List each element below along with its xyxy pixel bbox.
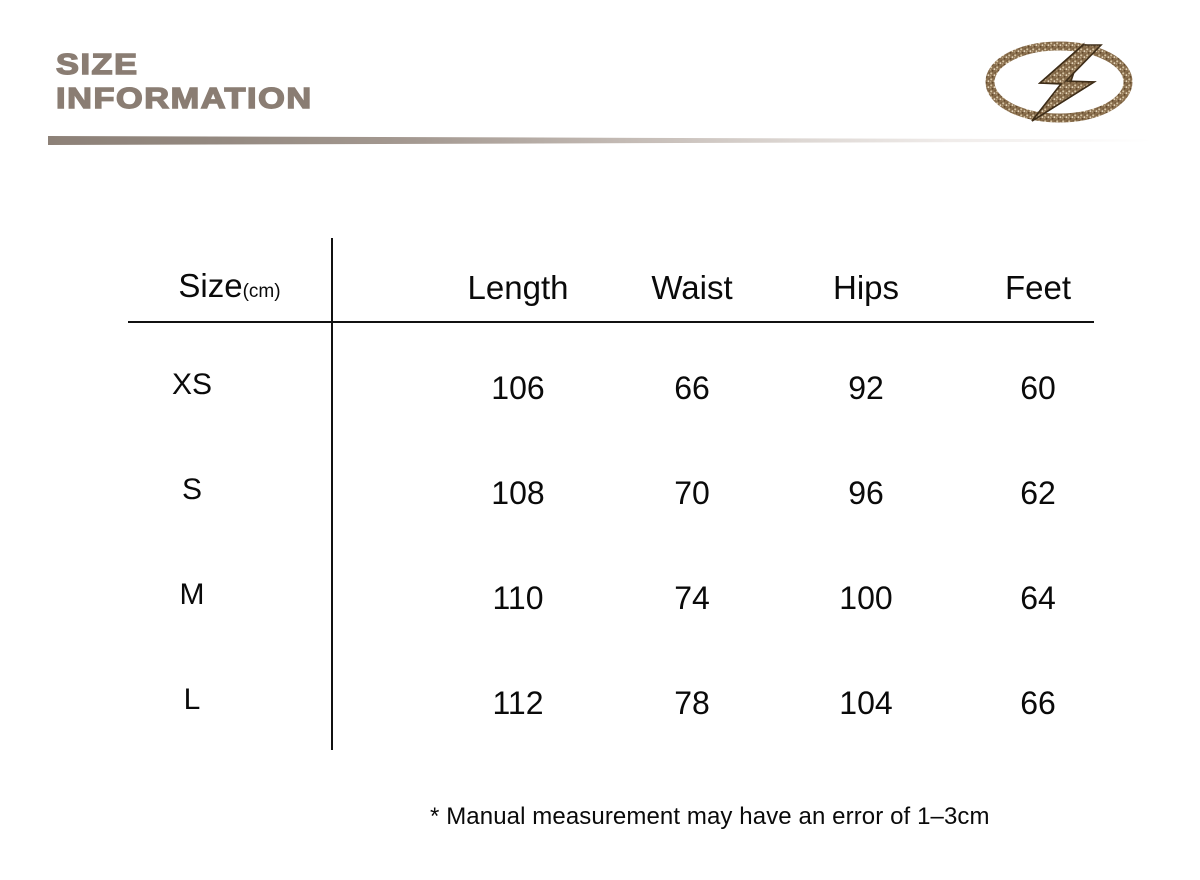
- page-header: SIZE INFORMATION: [0, 0, 1200, 160]
- lightning-bolt-oval-logo: [984, 36, 1134, 128]
- column-header-feet: Feet: [948, 268, 1128, 308]
- page-title: SIZE INFORMATION: [56, 50, 303, 115]
- column-header-waist: Waist: [602, 268, 782, 308]
- table-cell-hips: 104: [776, 683, 956, 723]
- table-row-size-label: M: [128, 576, 256, 614]
- page-title-line-1: SIZE: [56, 50, 313, 77]
- table-row-size-label: XS: [128, 366, 256, 404]
- table-cell-length: 110: [428, 578, 608, 618]
- measurement-disclaimer: * Manual measurement may have an error o…: [430, 803, 990, 831]
- table-cell-waist: 78: [602, 683, 782, 723]
- header-divider: [48, 136, 1152, 145]
- table-cell-feet: 62: [948, 473, 1128, 513]
- page-title-line-2: INFORMATION: [56, 84, 313, 111]
- column-header-size-unit: (cm): [243, 281, 281, 302]
- table-cell-waist: 74: [602, 578, 782, 618]
- table-cell-hips: 92: [776, 368, 956, 408]
- column-header-size-label: Size: [178, 267, 242, 304]
- table-cell-length: 106: [428, 368, 608, 408]
- table-cell-feet: 60: [948, 368, 1128, 408]
- table-row-size-label: L: [128, 681, 256, 719]
- table-cell-feet: 64: [948, 578, 1128, 618]
- table-row-size-label: S: [128, 471, 256, 509]
- table-cell-waist: 70: [602, 473, 782, 513]
- table-cell-feet: 66: [948, 683, 1128, 723]
- table-cell-hips: 96: [776, 473, 956, 513]
- table-cell-waist: 66: [602, 368, 782, 408]
- table-cell-length: 108: [428, 473, 608, 513]
- column-header-length: Length: [428, 268, 608, 308]
- table-header-divider: [128, 321, 1094, 323]
- column-header-size: Size(cm): [128, 266, 331, 306]
- column-header-hips: Hips: [776, 268, 956, 308]
- table-cell-hips: 100: [776, 578, 956, 618]
- table-column-divider: [331, 238, 333, 750]
- table-cell-length: 112: [428, 683, 608, 723]
